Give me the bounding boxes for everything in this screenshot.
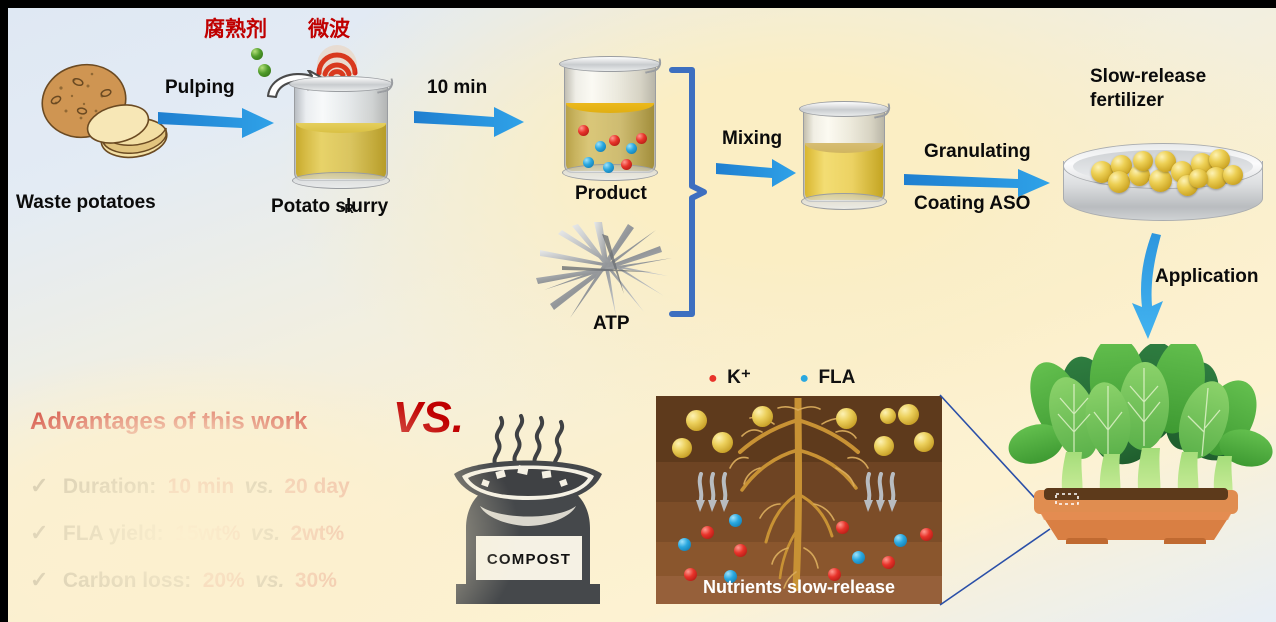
k-ion-dot-icon: ● [708, 370, 718, 387]
figure-canvas: Waste potatoes Pulping 腐熟剂 微波 [8, 8, 1276, 622]
slow-release-fertilizer-label-line2: fertilizer [1090, 90, 1164, 111]
advantage-row: ✓ Carbon loss: 20% vs. 30% [30, 567, 337, 593]
product-beaker-icon [564, 63, 656, 173]
advantage-ours: 10 min [168, 475, 235, 498]
waste-potatoes-label: Waste potatoes [16, 192, 156, 213]
ten-min-label: 10 min [427, 77, 487, 98]
additive-particle [251, 48, 263, 60]
advantage-row: ✓ FLA yield: 15wt% vs. 2wt% [30, 520, 344, 546]
petri-dish-icon [1063, 143, 1263, 225]
potted-greens-icon [996, 344, 1276, 549]
k-ion-label: K⁺ [727, 367, 751, 388]
application-label: Application [1155, 266, 1258, 287]
pulping-arrow-icon [158, 106, 276, 140]
mixed-beaker-icon [803, 108, 885, 202]
microwave-label: 微波 [308, 13, 350, 43]
ten-min-arrow-icon [414, 106, 526, 138]
advantage-ours: 20% [203, 569, 245, 592]
atp-label: ATP [593, 313, 630, 334]
atp-crystal-icon [532, 220, 682, 325]
decomposing-agent-label: 腐熟剂 [204, 13, 267, 43]
mixing-label: Mixing [722, 128, 782, 149]
advantage-row: ✓ Duration: 10 min vs. 20 day [30, 473, 350, 499]
potato-slurry-label: Potato slurry [271, 196, 388, 217]
soil-legend: ● K⁺ ● FLA [708, 366, 855, 389]
check-icon: ✓ [30, 520, 48, 545]
advantage-vs: vs. [245, 475, 274, 498]
check-icon: ✓ [30, 473, 48, 498]
advantage-label: Duration: [63, 475, 156, 498]
fla-dot-icon: ● [799, 370, 809, 387]
advantage-vs: vs. [251, 522, 280, 545]
advantage-theirs: 2wt% [291, 522, 345, 545]
product-label: Product [575, 183, 647, 204]
graphical-abstract-figure: Waste potatoes Pulping 腐熟剂 微波 [0, 0, 1276, 622]
advantage-label: FLA yield: [63, 522, 164, 545]
advantage-theirs: 20 day [284, 475, 349, 498]
advantage-ours: 15wt% [175, 522, 240, 545]
check-icon: ✓ [30, 567, 48, 592]
advantage-vs: vs. [255, 569, 284, 592]
granulating-label: Granulating [924, 141, 1031, 162]
pulping-label: Pulping [165, 77, 235, 98]
compost-bag-icon: COMPOST [418, 408, 638, 622]
advantages-heading: Advantages of this work [30, 408, 307, 436]
advantage-label: Carbon loss: [63, 569, 191, 592]
nutrients-slow-release-caption: Nutrients slow-release [656, 577, 942, 598]
fla-label: FLA [818, 367, 855, 388]
potato-slurry-beaker-icon: ·R [294, 83, 388, 181]
compost-bag-label: COMPOST [487, 551, 571, 568]
application-arrow-icon [1130, 233, 1190, 348]
mixing-arrow-icon [716, 158, 798, 188]
grouping-bracket [666, 66, 708, 323]
slow-release-fertilizer-label-line1: Slow-release [1090, 66, 1206, 87]
coating-aso-label: Coating ASO [914, 193, 1030, 214]
advantage-theirs: 30% [295, 569, 337, 592]
root-soil-icon: Nutrients slow-release [656, 396, 942, 604]
